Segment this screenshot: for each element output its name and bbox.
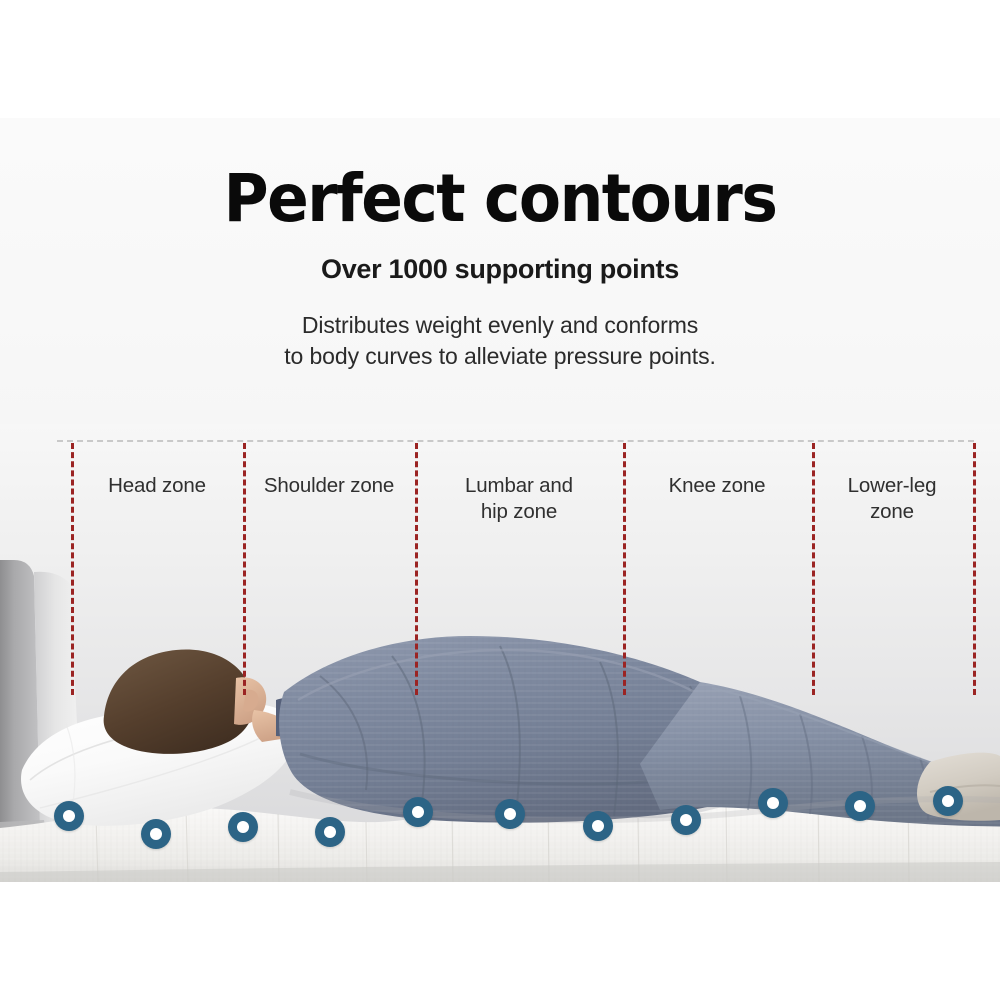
support-point-marker	[141, 819, 171, 849]
support-point-marker	[54, 801, 84, 831]
page-description: Distributes weight evenly and conforms t…	[0, 310, 1000, 372]
description-line-1: Distributes weight evenly and conforms	[0, 310, 1000, 341]
page-title: Perfect contours	[35, 163, 965, 235]
support-point-marker	[495, 799, 525, 829]
support-point-marker	[933, 786, 963, 816]
support-point-marker	[228, 812, 258, 842]
support-point-marker	[758, 788, 788, 818]
description-line-2: to body curves to alleviate pressure poi…	[0, 341, 1000, 372]
infographic-page: Perfect contours Over 1000 supporting po…	[0, 0, 1000, 1000]
background-top	[0, 0, 1000, 120]
support-point-marker	[671, 805, 701, 835]
support-point-marker	[583, 811, 613, 841]
support-point-marker	[403, 797, 433, 827]
page-subtitle: Over 1000 supporting points	[0, 253, 1000, 285]
background-bottom	[0, 882, 1000, 1000]
support-point-marker	[845, 791, 875, 821]
support-point-marker	[315, 817, 345, 847]
